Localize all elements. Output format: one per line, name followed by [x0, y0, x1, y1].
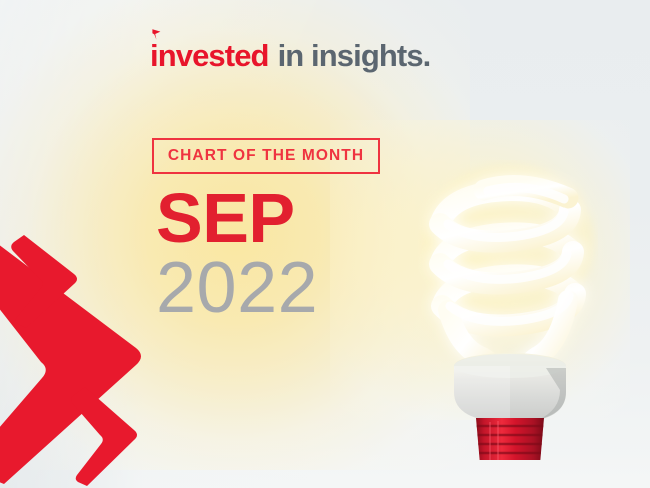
logo-wordmark-primary: invested — [150, 40, 269, 71]
bulb-screw-base — [476, 418, 544, 460]
logo-text-in-insights: in insights. — [278, 40, 431, 71]
lightbulb-illustration — [418, 160, 598, 460]
chevron-right-small-top-icon — [0, 234, 78, 330]
brand-logo: invested in insights. — [150, 40, 430, 71]
chart-of-the-month-badge: CHART OF THE MONTH — [152, 138, 380, 174]
chart-of-the-month-poster: invested in insights. CHART OF THE MONTH… — [0, 0, 650, 488]
logo-text-invested: invested — [150, 38, 269, 73]
chart-of-the-month-label: CHART OF THE MONTH — [168, 148, 364, 164]
chevron-decoration-group — [0, 236, 178, 488]
page-title-year: 2022 — [156, 252, 318, 324]
chevron-right-small-bottom-icon — [56, 386, 138, 488]
